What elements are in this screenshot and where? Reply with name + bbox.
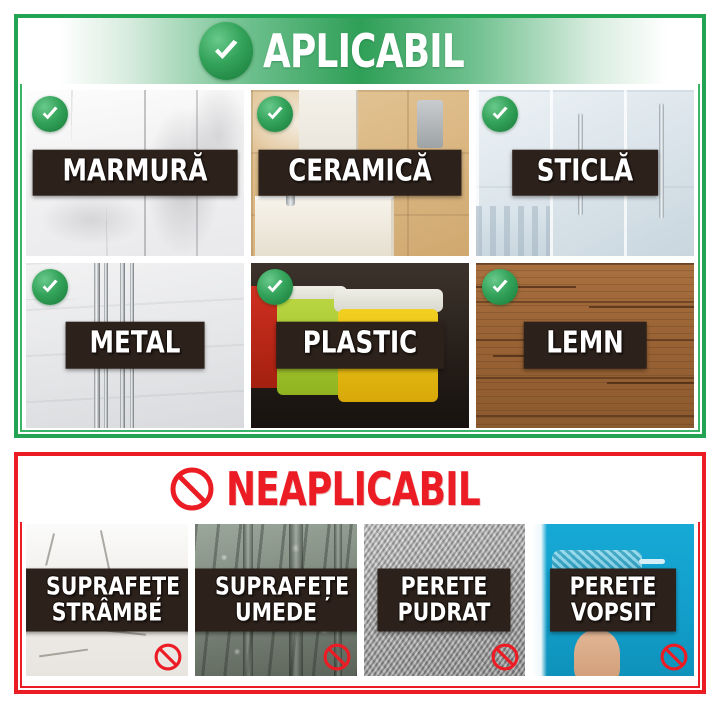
excluded-label-line2: UMEDE [215, 599, 337, 625]
check-badge-metal [32, 269, 68, 305]
surface-card-wood[interactable]: LEMN [476, 263, 694, 429]
surface-label-plate: STICLĂ [512, 149, 658, 196]
ban-badge-powdery-wall [490, 642, 520, 672]
excluded-label-plate: SUPRAFEȚE STRÂMBE [26, 569, 188, 632]
check-circle-icon [32, 96, 68, 132]
surface-label-plate: CERAMICĂ [258, 149, 461, 196]
excluded-card-powdery-wall[interactable]: PERETE PUDRAT [364, 524, 526, 676]
surface-label-text: LEMN [546, 329, 624, 360]
excluded-label-line1: PERETE [398, 574, 491, 600]
surface-label-text: MARMURĂ [63, 156, 208, 187]
surface-card-marble[interactable]: MARMURĂ [26, 90, 244, 256]
excluded-label-plate: PERETE VOPSIT [550, 569, 676, 632]
surface-label-text: STICLĂ [537, 156, 633, 187]
prohibition-icon [168, 465, 216, 513]
surface-label-plate: METAL [66, 322, 205, 369]
check-circle-icon [257, 96, 293, 132]
surface-label-plate: PLASTIC [276, 322, 444, 369]
ban-badge-wet-surface [322, 642, 352, 672]
check-badge-marble [32, 96, 68, 132]
surface-card-metal[interactable]: METAL [26, 263, 244, 429]
not-applicable-grid: SUPRAFEȚE STRÂMBE SUPRA [26, 524, 694, 676]
surface-card-ceramic[interactable]: CERAMICĂ [251, 90, 469, 256]
excluded-label-line2: VOPSIT [570, 599, 657, 625]
check-badge-ceramic [257, 96, 293, 132]
applicable-banner: APLICABIL [18, 18, 702, 84]
prohibition-icon [322, 642, 352, 672]
excluded-label-plate: PERETE PUDRAT [378, 569, 511, 632]
ban-badge-painted-wall [659, 642, 689, 672]
applicable-section: APLICABIL MARMURĂ [14, 14, 706, 438]
surface-label-text: METAL [90, 329, 181, 360]
surface-label-text: PLASTIC [303, 329, 417, 360]
check-badge-glass [482, 96, 518, 132]
excluded-card-painted-wall[interactable]: PERETE VOPSIT [532, 524, 694, 676]
check-circle-icon [32, 269, 68, 305]
excluded-card-cracked-paint[interactable]: SUPRAFEȚE STRÂMBE [26, 524, 188, 676]
check-badge-wood [482, 269, 518, 305]
excluded-label-line1: PERETE [570, 574, 657, 600]
ban-badge-cracked-paint [153, 642, 183, 672]
excluded-label-line1: SUPRAFEȚE [215, 574, 337, 600]
excluded-label-plate: SUPRAFEȚE UMEDE [195, 569, 357, 632]
check-circle-icon [199, 22, 253, 80]
check-circle-icon [257, 269, 293, 305]
prohibition-icon [659, 642, 689, 672]
surface-card-plastic[interactable]: PLASTIC [251, 263, 469, 429]
check-circle-icon [482, 269, 518, 305]
prohibition-icon [153, 642, 183, 672]
surface-label-text: CERAMICĂ [288, 156, 432, 187]
excluded-label-line1: SUPRAFEȚE [46, 574, 168, 600]
prohibition-icon [490, 642, 520, 672]
not-applicable-section: NEAPLICABIL SUPRAFEȚE STRÂMBE [14, 452, 706, 694]
check-badge-plastic [257, 269, 293, 305]
excluded-card-wet-surface[interactable]: SUPRAFEȚE UMEDE [195, 524, 357, 676]
excluded-label-line2: STRÂMBE [46, 599, 168, 625]
not-applicable-banner: NEAPLICABIL [18, 456, 702, 522]
excluded-label-line2: PUDRAT [398, 599, 491, 625]
check-circle-icon [482, 96, 518, 132]
infographic-poster: APLICABIL MARMURĂ [0, 0, 720, 720]
applicable-title: APLICABIL [263, 28, 464, 74]
surface-label-plate: LEMN [524, 322, 647, 369]
not-applicable-title: NEAPLICABIL [226, 466, 480, 512]
surface-card-glass[interactable]: STICLĂ [476, 90, 694, 256]
applicable-grid: MARMURĂ CERAMICĂ [26, 90, 694, 428]
surface-label-plate: MARMURĂ [33, 149, 238, 196]
